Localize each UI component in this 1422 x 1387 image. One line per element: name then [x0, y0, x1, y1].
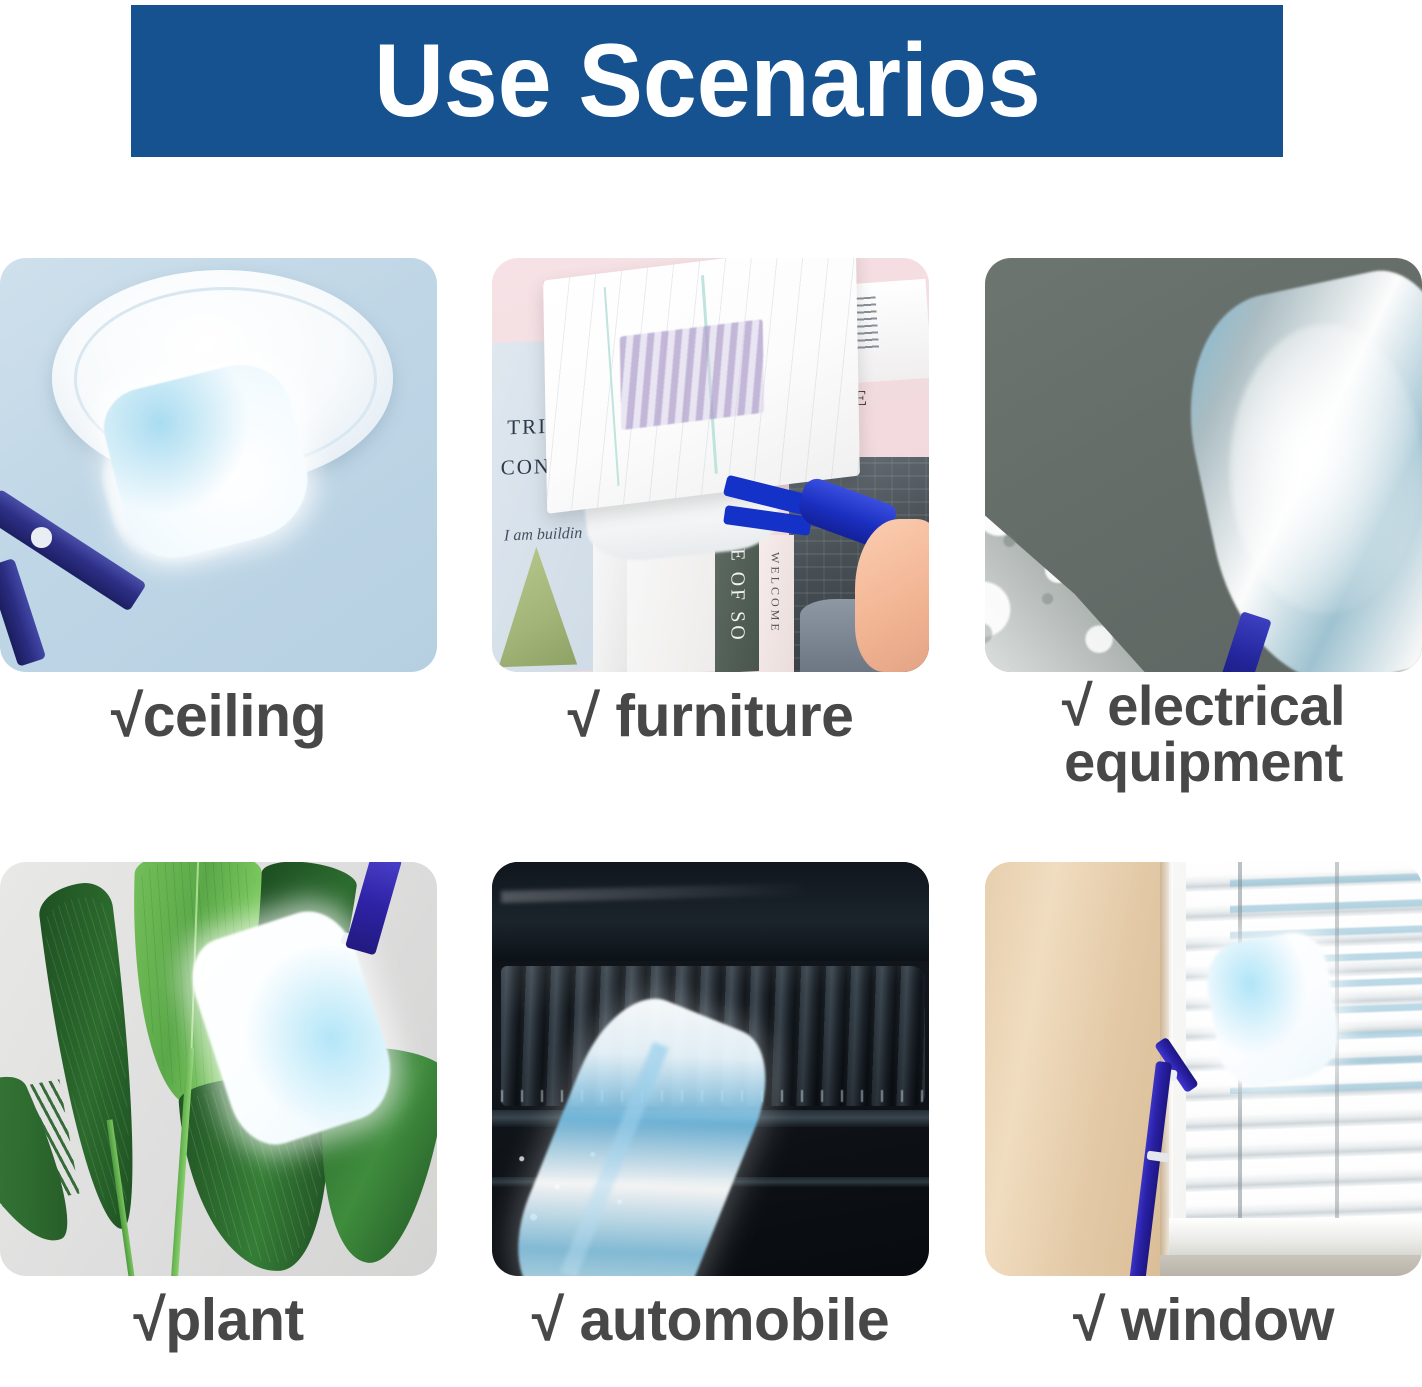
- scenario-tile-plant: [0, 862, 437, 1276]
- car-panel: [492, 862, 929, 961]
- duster-highlight: [1230, 324, 1422, 614]
- scenario-tile-window: [985, 862, 1422, 1276]
- caption-furniture: √ furniture: [492, 672, 929, 862]
- duster-joint: [31, 527, 53, 548]
- scenario-tile-ceiling: [0, 258, 437, 672]
- book-welcome: WELCOME: [759, 535, 794, 672]
- scenario-grid: HOME C DESI TRIAN CONSTR I am buildin TH…: [0, 258, 1422, 1387]
- duster-handle: [1219, 611, 1271, 672]
- photo-ceiling: [0, 258, 437, 672]
- photo-automobile: [492, 862, 929, 1276]
- caption-ceiling: √ceiling: [0, 672, 437, 862]
- book-subtitle: I am buildin: [504, 525, 582, 546]
- caption-window-text: √ window: [1073, 1290, 1334, 1350]
- window-sill: [1169, 1218, 1422, 1255]
- caption-window: √ window: [985, 1276, 1422, 1353]
- hand: [855, 519, 929, 672]
- scenario-tile-automobile: [492, 862, 929, 1276]
- scenario-tile-electrical-equipment: [985, 258, 1422, 672]
- page-title: Use Scenarios: [374, 29, 1041, 133]
- caption-electrical-equipment-text: √ electrical equipment: [1062, 678, 1345, 790]
- caption-plant: √plant: [0, 1276, 437, 1353]
- photo-window: [985, 862, 1422, 1276]
- duster-handle: [345, 862, 402, 955]
- caption-automobile-text: √ automobile: [532, 1290, 889, 1350]
- book-cover-triangle: [499, 545, 578, 667]
- photo-plant: [0, 862, 437, 1276]
- caption-electrical-equipment: √ electrical equipment: [985, 672, 1422, 862]
- caption-plant-text: √plant: [133, 1290, 303, 1350]
- photo-furniture: HOME C DESI TRIAN CONSTR I am buildin TH…: [492, 258, 929, 672]
- window-sill-shadow: [1160, 1255, 1422, 1276]
- book-welcome-spine-text: WELCOME: [768, 552, 783, 634]
- duster-sheet-purple-strip: [620, 319, 765, 430]
- header-banner: Use Scenarios: [131, 5, 1283, 157]
- scenario-tile-furniture: HOME C DESI TRIAN CONSTR I am buildin TH…: [492, 258, 929, 672]
- caption-ceiling-text: √ceiling: [111, 686, 326, 746]
- foam-bubble-texture: [985, 448, 1212, 672]
- photo-electrical-equipment: [985, 258, 1422, 672]
- duster-sheet: [544, 258, 860, 514]
- duster-handle-lower: [0, 558, 46, 667]
- caption-furniture-text: √ furniture: [568, 686, 854, 746]
- caption-automobile: √ automobile: [492, 1276, 929, 1353]
